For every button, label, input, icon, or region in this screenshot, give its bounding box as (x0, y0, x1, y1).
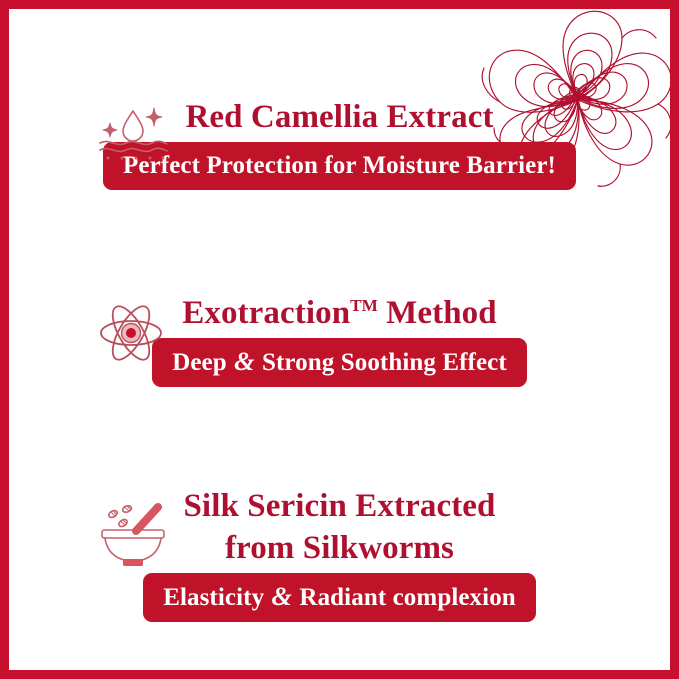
ampersand: & (233, 347, 256, 376)
feature-title-prefix: Exotraction (182, 295, 350, 331)
badge-text-part1: Elasticity (163, 584, 270, 611)
promo-graphic-page: Red Camellia Extract Perfect Protection … (0, 0, 679, 679)
ampersand: & (271, 582, 294, 611)
status-badge: Deep & Strong Soothing Effect (152, 338, 527, 387)
status-badge: Perfect Protection for Moisture Barrier! (103, 142, 576, 190)
mortar-and-pestle-icon (96, 497, 170, 567)
badge-text-part2: Strong Soothing Effect (256, 349, 507, 376)
feature-title-suffix: Method (378, 295, 497, 331)
badge-text-part2: Radiant complexion (293, 584, 516, 611)
badge-row: Elasticity & Radiant complexion (0, 573, 679, 622)
trademark-symbol: TM (350, 296, 378, 315)
water-droplet-skin-icon (97, 104, 169, 162)
status-badge: Elasticity & Radiant complexion (143, 573, 536, 622)
features-list: Red Camellia Extract Perfect Protection … (0, 0, 679, 679)
badge-text-part1: Deep (172, 349, 233, 376)
atom-icon (98, 300, 164, 366)
